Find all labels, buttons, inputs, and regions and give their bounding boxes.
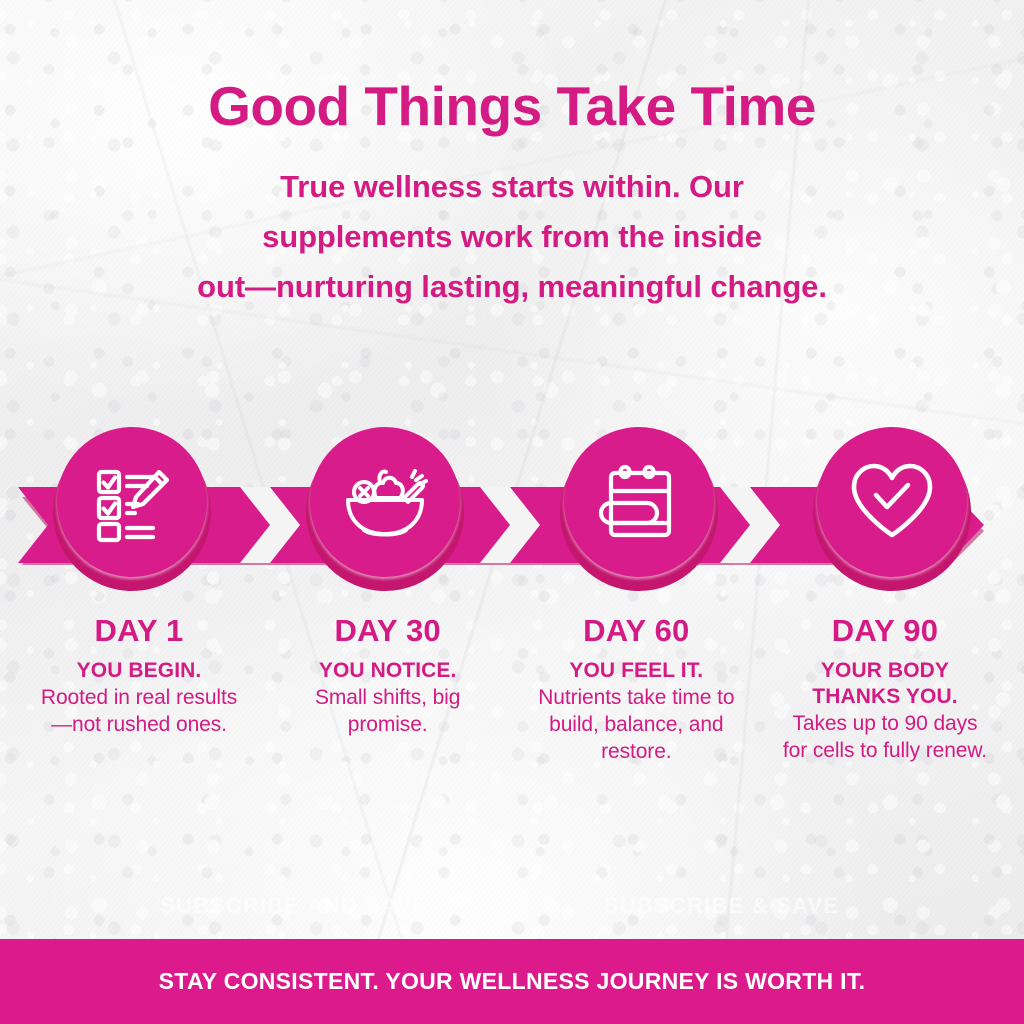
timeline-circles: [0, 425, 1024, 605]
caption-body: Nutrients take time to build, balance, a…: [531, 685, 741, 766]
circle-disc: [57, 427, 207, 577]
page-title: Good Things Take Time: [0, 78, 1024, 136]
watermark-layer: SUBSCRIBE AND SAVE SUBSCRIBE & SAVE: [0, 893, 1024, 933]
circle-disc: [310, 427, 460, 577]
timeline-step-4[interactable]: [812, 425, 972, 603]
caption-body: Takes up to 90 days for cells to fully r…: [780, 711, 990, 765]
subtitle-line-1: True wellness starts within. Our: [0, 162, 1024, 212]
timeline-step-1[interactable]: [52, 425, 212, 603]
salad-bowl-icon: [342, 462, 428, 542]
caption-lead: YOU NOTICE.: [283, 658, 493, 684]
calendar-icon: [597, 461, 681, 543]
caption-step-2: DAY 30 YOU NOTICE. Small shifts, big pro…: [283, 612, 493, 765]
watermark-subscribe-and-save: SUBSCRIBE AND SAVE: [160, 893, 429, 919]
heart-check-icon: [848, 461, 936, 543]
checklist-pencil-icon: [90, 460, 174, 544]
circle-disc: [564, 427, 714, 577]
footer-banner: STAY CONSISTENT. YOUR WELLNESS JOURNEY I…: [0, 939, 1024, 1024]
caption-lead: YOU FEEL IT.: [531, 658, 741, 684]
caption-day: DAY 90: [780, 612, 990, 651]
caption-step-1: DAY 1 YOU BEGIN. Rooted in real results—…: [34, 612, 244, 765]
subtitle-line-2: supplements work from the inside: [0, 212, 1024, 262]
caption-lead: YOU BEGIN.: [34, 658, 244, 684]
timeline: [0, 425, 1024, 625]
page-subtitle: True wellness starts within. Our supplem…: [0, 162, 1024, 313]
caption-body: Small shifts, big promise.: [283, 685, 493, 739]
infographic-poster: Good Things Take Time True wellness star…: [0, 0, 1024, 1024]
footer-banner-text: STAY CONSISTENT. YOUR WELLNESS JOURNEY I…: [159, 968, 866, 995]
circle-disc: [817, 427, 967, 577]
subtitle-line-3: out—nurturing lasting, meaningful change…: [0, 262, 1024, 312]
caption-lead: YOUR BODY THANKS YOU.: [780, 658, 990, 710]
timeline-step-3[interactable]: [559, 425, 719, 603]
header: Good Things Take Time True wellness star…: [0, 78, 1024, 312]
caption-body: Rooted in real results—not rushed ones.: [34, 685, 244, 739]
timeline-captions: DAY 1 YOU BEGIN. Rooted in real results—…: [0, 612, 1024, 765]
watermark-subscribe-save: SUBSCRIBE & SAVE: [604, 893, 839, 919]
timeline-step-2[interactable]: [305, 425, 465, 603]
caption-day: DAY 1: [34, 612, 244, 651]
caption-day: DAY 30: [283, 612, 493, 651]
caption-step-3: DAY 60 YOU FEEL IT. Nutrients take time …: [531, 612, 741, 765]
caption-step-4: DAY 90 YOUR BODY THANKS YOU. Takes up to…: [780, 612, 990, 765]
caption-day: DAY 60: [531, 612, 741, 651]
